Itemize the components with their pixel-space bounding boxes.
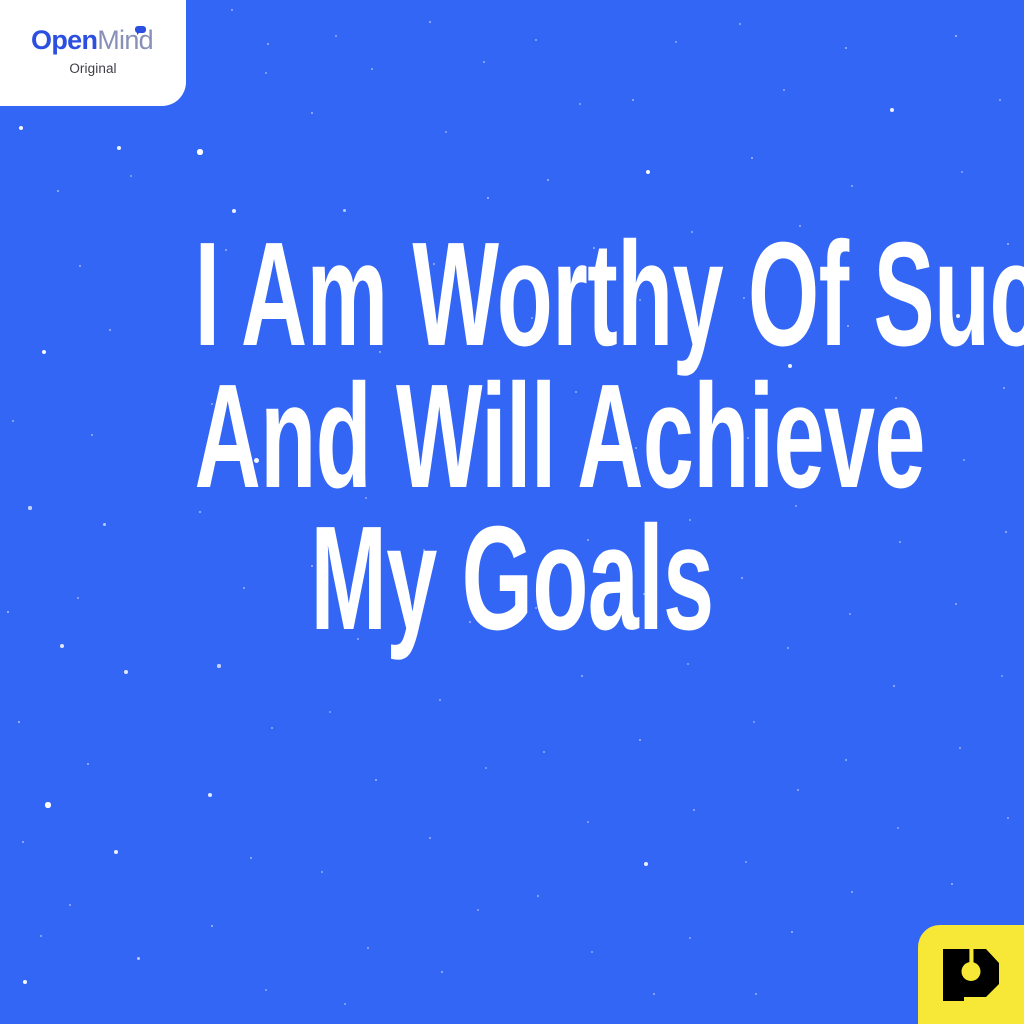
star-dot [375, 779, 378, 782]
episode-title: I Am Worthy Of Success And Will Achieve … [0, 224, 1024, 650]
star-dot [130, 175, 132, 177]
star-dot [999, 99, 1001, 101]
star-dot [117, 146, 121, 150]
openmind-wordmark: OpenMind [31, 27, 153, 54]
star-dot [439, 699, 441, 701]
star-dot [18, 721, 21, 724]
podimo-p-icon [940, 946, 1002, 1004]
star-dot [114, 850, 119, 855]
star-dot [897, 827, 899, 829]
star-dot [791, 931, 794, 934]
star-dot [485, 767, 487, 769]
star-dot [267, 43, 270, 46]
star-dot [961, 171, 963, 173]
star-dot [311, 112, 314, 115]
title-line-1: I Am Worthy Of Success [195, 224, 830, 366]
star-dot [124, 670, 128, 674]
star-dot [797, 789, 799, 791]
star-dot [367, 947, 369, 949]
star-dot [845, 759, 847, 761]
star-dot [644, 862, 649, 867]
star-dot [955, 35, 958, 38]
star-dot [231, 9, 233, 11]
star-dot [639, 739, 642, 742]
star-dot [959, 747, 961, 749]
star-dot [344, 1003, 346, 1005]
star-dot [445, 131, 447, 133]
star-dot [591, 951, 593, 953]
openmind-brand-card: OpenMind Original [0, 0, 186, 106]
star-dot [441, 971, 444, 974]
star-dot [693, 809, 695, 811]
star-dot [893, 685, 896, 688]
star-dot [321, 871, 323, 873]
star-dot [587, 821, 589, 823]
star-dot [483, 61, 485, 63]
star-dot [845, 47, 848, 50]
star-dot [137, 957, 140, 960]
brand-subtitle: Original [69, 61, 116, 76]
star-dot [745, 861, 747, 863]
star-dot [23, 980, 28, 985]
star-dot [687, 663, 689, 665]
star-dot [329, 711, 331, 713]
star-dot [208, 793, 212, 797]
wordmark-open: Open [31, 25, 97, 55]
star-dot [851, 185, 853, 187]
star-dot [653, 993, 655, 995]
star-dot [739, 23, 741, 25]
star-dot [487, 197, 490, 200]
star-dot [335, 35, 337, 37]
star-dot [265, 989, 267, 991]
star-dot [19, 126, 23, 130]
star-dot [579, 103, 581, 105]
star-dot [217, 664, 220, 667]
star-dot [371, 68, 373, 70]
podcast-cover-art: OpenMind Original I Am Worthy Of Success… [0, 0, 1024, 1024]
star-dot [429, 837, 431, 839]
star-dot [265, 72, 267, 74]
podimo-logo-badge [918, 925, 1024, 1024]
star-dot [1001, 675, 1003, 677]
title-line-3: My Goals [195, 508, 830, 650]
star-dot [675, 41, 677, 43]
star-dot [429, 21, 432, 24]
star-dot [783, 89, 785, 91]
star-dot [537, 895, 539, 897]
star-dot [40, 935, 42, 937]
star-dot [69, 904, 71, 906]
star-dot [197, 149, 202, 154]
star-dot [1007, 817, 1009, 819]
star-dot [535, 39, 537, 41]
star-dot [753, 721, 755, 723]
star-dot [646, 170, 651, 175]
star-dot [57, 190, 59, 192]
star-dot [22, 841, 25, 844]
star-dot [271, 727, 273, 729]
star-dot [250, 857, 253, 860]
star-dot [87, 763, 90, 766]
title-line-2: And Will Achieve [195, 366, 830, 508]
star-dot [632, 99, 635, 102]
star-dot [755, 993, 757, 995]
star-dot [543, 751, 545, 753]
star-dot [951, 883, 954, 886]
star-dot [689, 937, 691, 939]
star-dot [547, 179, 550, 182]
star-dot [211, 925, 214, 928]
star-dot [477, 909, 479, 911]
star-dot [851, 891, 853, 893]
speech-bubble-icon [135, 26, 146, 33]
star-dot [890, 108, 895, 113]
star-dot [45, 802, 50, 807]
star-dot [581, 675, 584, 678]
star-dot [751, 157, 754, 160]
